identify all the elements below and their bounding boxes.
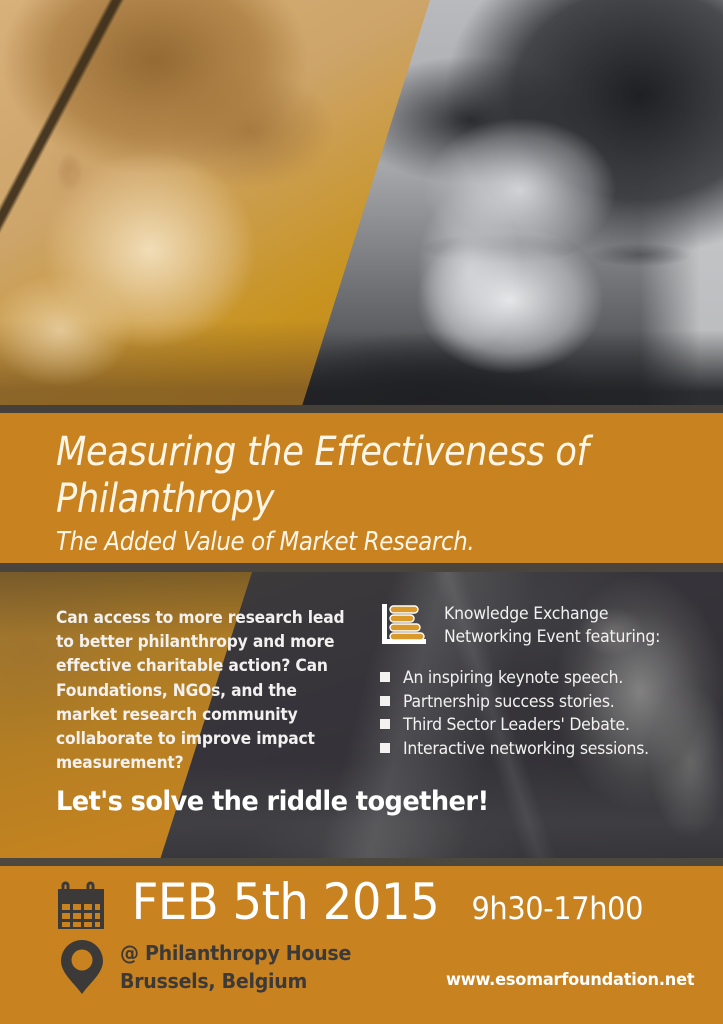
- event-heading-block: Knowledge Exchange Networking Event feat…: [380, 602, 680, 648]
- event-time: 9h30-17h00: [471, 891, 643, 927]
- list-item: Third Sector Leaders' Debate.: [380, 713, 685, 737]
- website-url[interactable]: www.esomarfoundation.net: [446, 970, 694, 990]
- event-date: FEB 5th 2015: [132, 873, 440, 931]
- page-title-line-1: Measuring the Effectiveness of: [56, 429, 589, 475]
- page-subtitle: The Added Value of Market Research.: [56, 527, 474, 557]
- list-item: Interactive networking sessions.: [380, 737, 685, 761]
- title-band: Measuring the Effectiveness of Philanthr…: [0, 413, 723, 563]
- call-to-action-text: Let's solve the riddle together!: [56, 786, 489, 817]
- calendar-icon: [57, 880, 105, 932]
- bullet-square-icon: [380, 672, 390, 682]
- divider-title-body: [0, 563, 723, 572]
- hero-photo-band: [0, 0, 723, 412]
- list-item-label: Partnership success stories.: [403, 690, 615, 714]
- body-band: Can access to more research lead to bett…: [0, 572, 723, 866]
- bar-chart-books-icon: [380, 602, 428, 648]
- lead-paragraph: Can access to more research lead to bett…: [56, 606, 349, 775]
- bullet-square-icon: [380, 696, 390, 706]
- event-date-line: FEB 5th 2015 9h30-17h00: [120, 873, 649, 931]
- event-poster: Measuring the Effectiveness of Philanthr…: [0, 0, 723, 1024]
- bullet-square-icon: [380, 743, 390, 753]
- event-venue: @ Philanthropy House Brussels, Belgium: [120, 939, 351, 995]
- list-item: An inspiring keynote speech.: [380, 666, 685, 690]
- list-item-label: An inspiring keynote speech.: [403, 666, 623, 690]
- event-heading-text: Knowledge Exchange Networking Event feat…: [444, 602, 660, 648]
- map-pin-icon: [60, 939, 104, 995]
- footer-band: FEB 5th 2015 9h30-17h00 @ Philanthropy H…: [0, 866, 723, 1024]
- list-item: Partnership success stories.: [380, 690, 685, 714]
- divider-hero-title: [0, 405, 723, 413]
- page-title-line-2: Philanthropy: [56, 476, 274, 522]
- list-item-label: Interactive networking sessions.: [403, 737, 649, 761]
- event-features-list: An inspiring keynote speech. Partnership…: [380, 666, 685, 760]
- list-item-label: Third Sector Leaders' Debate.: [403, 713, 630, 737]
- bullet-square-icon: [380, 719, 390, 729]
- divider-body-footer: [0, 858, 723, 866]
